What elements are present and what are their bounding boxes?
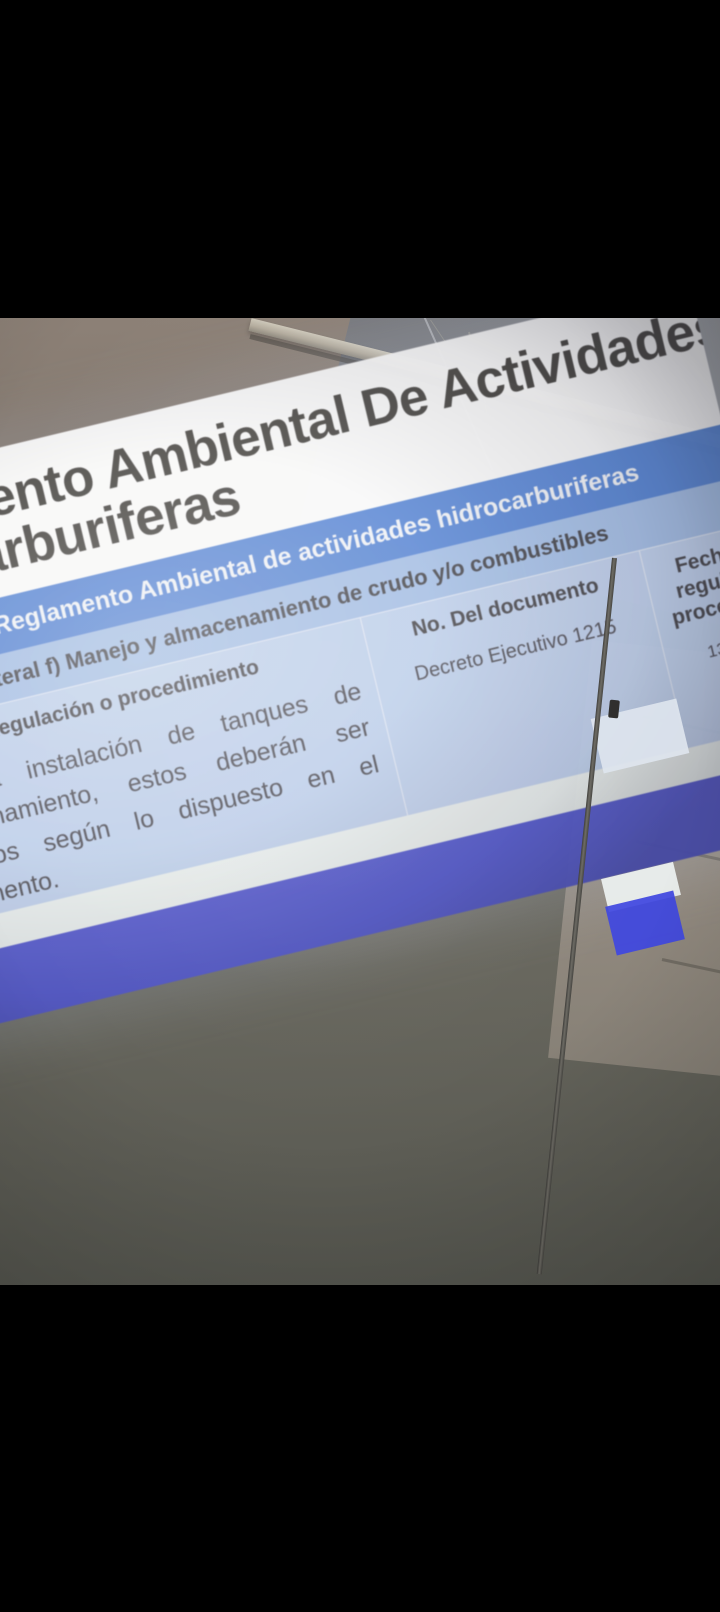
photo-canvas: eglamento Ambiental De Actividades idroc… (0, 0, 720, 1612)
letterbox-bottom (0, 1285, 720, 1612)
room-scene: eglamento Ambiental De Actividades idroc… (0, 310, 720, 1290)
letterbox-top (0, 0, 720, 318)
pole-tip (608, 700, 620, 719)
